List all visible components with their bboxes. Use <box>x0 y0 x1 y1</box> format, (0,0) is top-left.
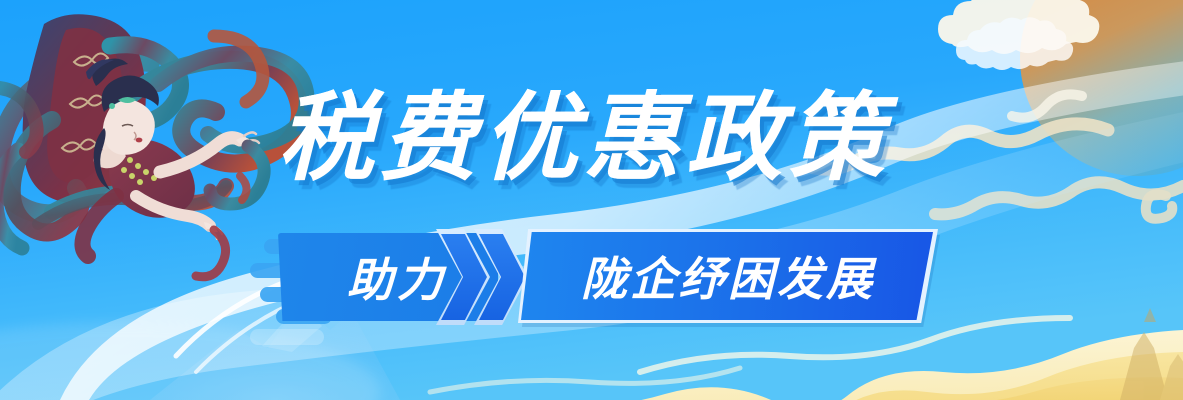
title-block: 税费优惠政策 <box>278 76 958 202</box>
tax-benefit-policy-banner: 税费优惠政策 助力 陇企纾困发展 <box>0 0 1183 400</box>
ribbon-accent-tab <box>250 329 324 345</box>
page-title: 税费优惠政策 <box>278 76 958 200</box>
subtitle-ribbon: 助力 陇企纾困发展 <box>250 231 940 327</box>
apsara-head <box>86 58 159 190</box>
sun-circle <box>1020 0 1183 176</box>
subtitle-right-label: 陇企纾困发展 <box>518 229 938 323</box>
ribbon-right-plate: 陇企纾困发展 <box>518 229 940 325</box>
